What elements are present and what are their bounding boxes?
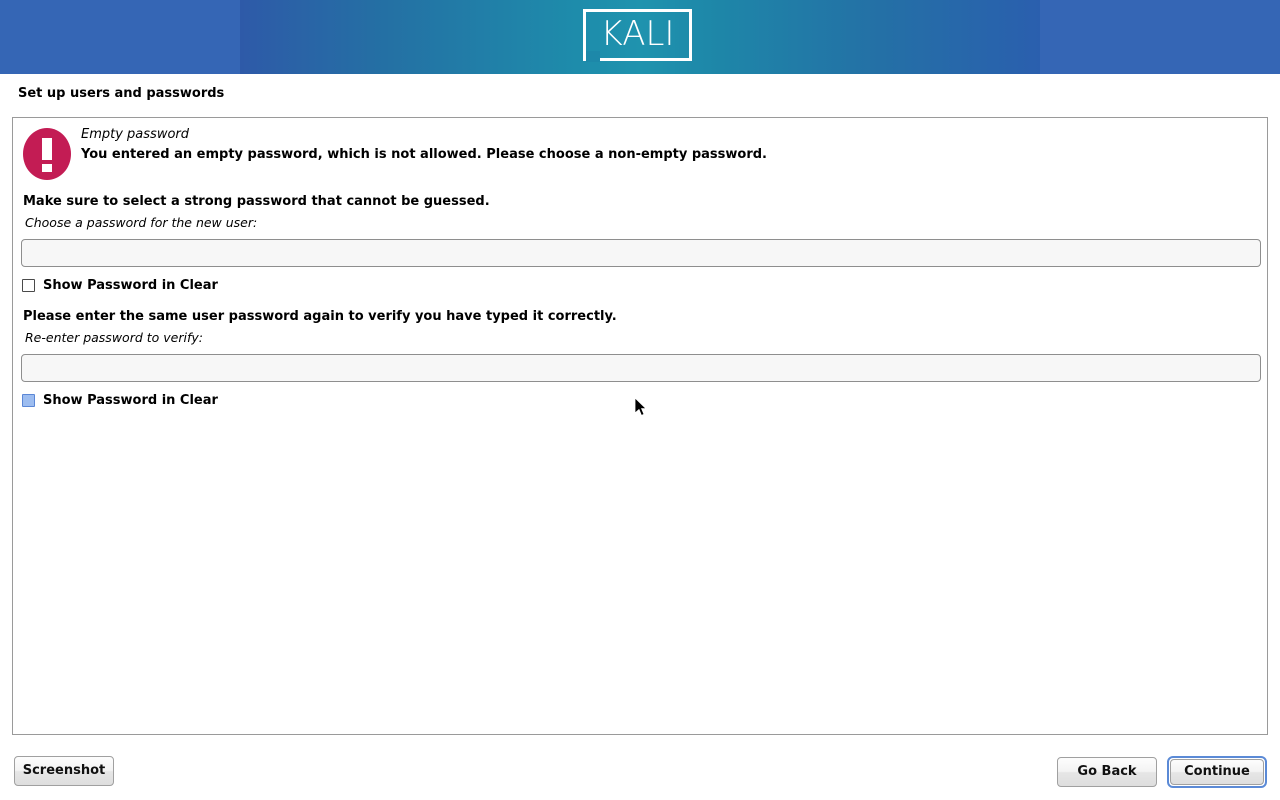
continue-button[interactable]: Continue [1170,759,1264,785]
kali-logo: KALI [583,9,696,65]
error-exclamation-icon [23,128,71,180]
exclamation-dot [42,164,52,172]
show-password-checkbox-1[interactable] [22,279,35,292]
error-title: Empty password [81,127,189,142]
show-password-checkbox-row-2[interactable]: Show Password in Clear [22,391,218,409]
show-password-checkbox-row-1[interactable]: Show Password in Clear [22,276,218,294]
error-message: You entered an empty password, which is … [81,147,767,162]
show-password-label-1: Show Password in Clear [43,278,218,293]
password-input[interactable] [21,239,1261,267]
go-back-button[interactable]: Go Back [1057,757,1157,787]
screenshot-button[interactable]: Screenshot [14,756,114,786]
show-password-checkbox-2[interactable] [22,394,35,407]
password-field-label: Choose a password for the new user: [25,215,257,230]
verify-password-input[interactable] [21,354,1261,382]
page-title: Set up users and passwords [18,86,224,101]
error-block: Empty password You entered an empty pass… [13,118,1267,196]
show-password-label-2: Show Password in Clear [43,393,218,408]
exclamation-bar [42,138,52,160]
password-prompt: Make sure to select a strong password th… [23,194,490,209]
installer-banner: KALI [0,0,1280,74]
main-panel: Empty password You entered an empty pass… [12,117,1268,735]
verify-field-label: Re-enter password to verify: [25,330,203,345]
kali-logo-text: KALI [583,9,692,61]
verify-prompt: Please enter the same user password agai… [23,309,617,324]
